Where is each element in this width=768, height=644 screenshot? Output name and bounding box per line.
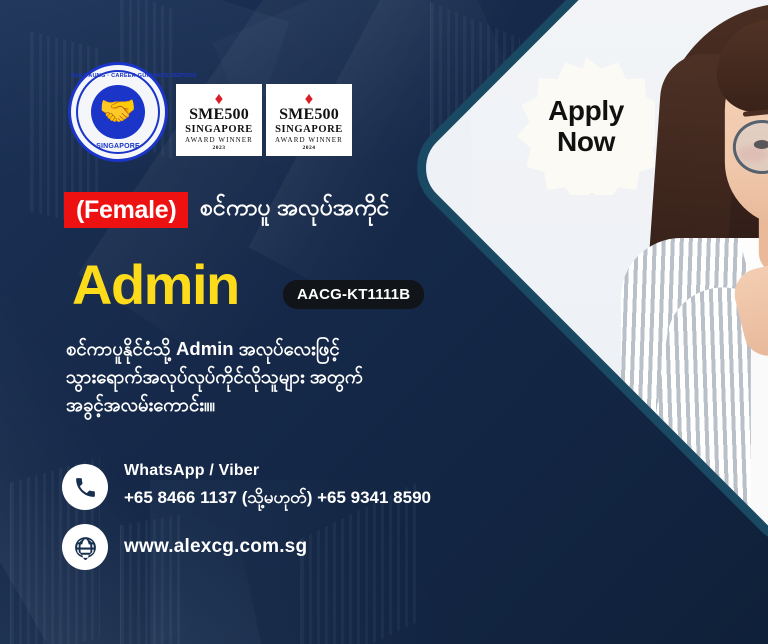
award-name: SME500 xyxy=(189,107,249,123)
description-line: စင်ကာပူနိုင်ငံသို့ Admin အလုပ်လေးဖြင့် xyxy=(66,335,436,363)
contact-phone-text: WhatsApp / Viber +65 8466 1137 (သို့မဟုတ… xyxy=(124,462,431,512)
job-description: စင်ကာပူနိုင်ငံသို့ Admin အလုပ်လေးဖြင့် သ… xyxy=(66,335,436,419)
job-advertisement-poster: ALEX AUNG · CAREER GUIDANCE SERVICE 🤝 SI… xyxy=(0,0,768,644)
award-label: AWARD WINNER xyxy=(275,136,343,145)
contact-phone-numbers: +65 8466 1137 (သို့မဟုတ်) +65 9341 8590 xyxy=(124,487,431,512)
contact-website[interactable]: www.alexcg.com.sg xyxy=(62,524,307,570)
award-badge: ♦ SME500 SINGAPORE AWARD WINNER 2024 xyxy=(266,84,352,156)
background-diagonal-stripe xyxy=(78,0,462,374)
subtitle-text: စင်ကာပူ အလုပ်အကိုင် xyxy=(200,193,389,227)
contact-channel-label: WhatsApp / Viber xyxy=(124,462,431,480)
page-title: Admin xyxy=(72,252,239,317)
award-year: 2024 xyxy=(303,145,316,151)
award-country: SINGAPORE xyxy=(275,123,343,136)
apply-now-line2: Now xyxy=(557,126,615,157)
handshake-icon: 🤝 xyxy=(91,85,145,139)
award-name: SME500 xyxy=(279,107,339,123)
description-line: သွားရောက်အလုပ်လုပ်ကိုင်လိုသူများ အတွက် xyxy=(66,363,436,391)
background-skyline-shape xyxy=(0,402,264,644)
award-badges: ♦ SME500 SINGAPORE AWARD WINNER 2023 ♦ S… xyxy=(176,84,352,156)
logo-bottom-text: SINGAPORE xyxy=(71,143,165,150)
contact-website-text: www.alexcg.com.sg xyxy=(124,536,307,558)
contact-phone[interactable]: WhatsApp / Viber +65 8466 1137 (သို့မဟုတ… xyxy=(62,462,431,512)
top-shape xyxy=(751,328,768,564)
website-url: www.alexcg.com.sg xyxy=(124,536,307,558)
award-badge: ♦ SME500 SINGAPORE AWARD WINNER 2023 xyxy=(176,84,262,156)
lion-head-icon: ♦ xyxy=(215,91,224,106)
award-label: AWARD WINNER xyxy=(185,136,253,145)
job-code-badge: AACG-KT1111B xyxy=(283,280,424,309)
phone-icon xyxy=(62,464,108,510)
logo-top-text: ALEX AUNG · CAREER GUIDANCE SERVICE xyxy=(71,73,165,79)
lion-head-icon: ♦ xyxy=(305,91,314,106)
award-year: 2023 xyxy=(213,145,226,151)
description-line: အခွင့်အလမ်းကောင်း။။ xyxy=(66,391,436,419)
gender-badge: (Female) xyxy=(64,192,188,228)
globe-icon xyxy=(62,524,108,570)
award-country: SINGAPORE xyxy=(185,123,253,136)
apply-now-line1: Apply xyxy=(548,95,624,126)
company-logo: ALEX AUNG · CAREER GUIDANCE SERVICE 🤝 SI… xyxy=(68,62,168,162)
